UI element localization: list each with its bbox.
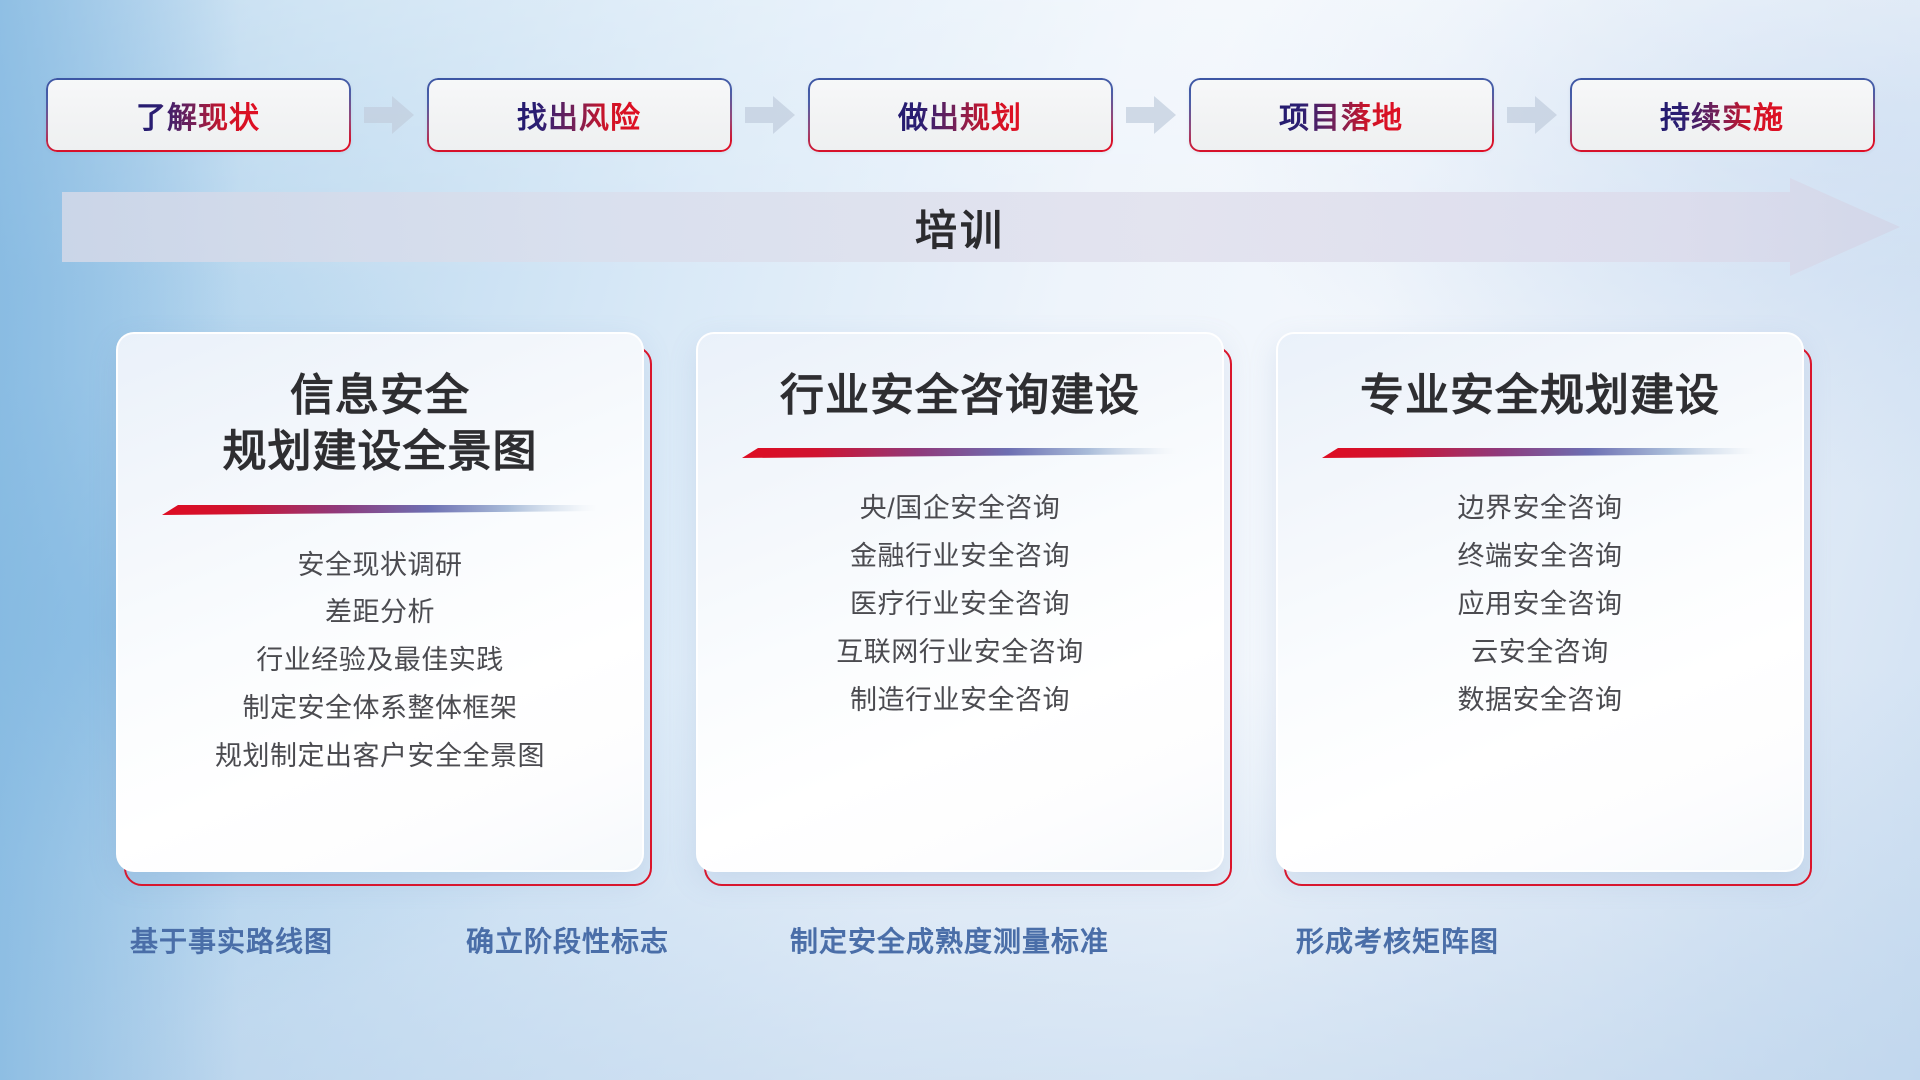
card-title: 信息安全 规划建设全景图 <box>223 368 538 481</box>
flow-step-2[interactable]: 找出风险 <box>427 78 732 152</box>
process-flow-row: 了解现状找出风险做出规划项目落地持续实施 <box>0 70 1920 160</box>
arrow-right-icon <box>1505 92 1559 138</box>
bottom-label-4: 形成考核矩阵图 <box>1296 920 1499 960</box>
cards-row: 信息安全 规划建设全景图安全现状调研差距分析行业经验及最佳实践制定安全体系整体框… <box>0 332 1920 892</box>
bottom-label-2: 确立阶段性标志 <box>466 920 669 960</box>
flow-step-label: 找出风险 <box>517 93 641 137</box>
card-list-item: 云安全咨询 <box>1471 637 1609 669</box>
card-list-item: 安全现状调研 <box>298 550 463 582</box>
card-list-item: 应用安全咨询 <box>1458 589 1623 621</box>
card-item-list: 安全现状调研差距分析行业经验及最佳实践制定安全体系整体框架规划制定出客户安全全景… <box>215 550 545 773</box>
bottom-label-3: 制定安全成熟度测量标准 <box>790 920 1109 960</box>
card-list-item: 数据安全咨询 <box>1458 685 1623 717</box>
card-1[interactable]: 信息安全 规划建设全景图安全现状调研差距分析行业经验及最佳实践制定安全体系整体框… <box>116 332 644 872</box>
flow-step-label: 持续实施 <box>1660 93 1784 137</box>
flow-step-4[interactable]: 项目落地 <box>1189 78 1494 152</box>
flow-arrow-4 <box>1505 92 1559 138</box>
flow-step-label: 了解现状 <box>136 93 260 137</box>
card-list-item: 金融行业安全咨询 <box>850 541 1070 573</box>
flow-step-3[interactable]: 做出规划 <box>808 78 1113 152</box>
bottom-labels-row: 基于事实路线图确立阶段性标志制定安全成熟度测量标准形成考核矩阵图 <box>0 920 1920 976</box>
card-3[interactable]: 专业安全规划建设边界安全咨询终端安全咨询应用安全咨询云安全咨询数据安全咨询 <box>1276 332 1804 872</box>
card-body: 行业安全咨询建设央/国企安全咨询金融行业安全咨询医疗行业安全咨询互联网行业安全咨… <box>696 332 1224 872</box>
card-list-item: 差距分析 <box>325 597 435 629</box>
card-list-item: 规划制定出客户安全全景图 <box>215 741 545 773</box>
banner-label: 培训 <box>0 178 1920 276</box>
flow-step-label: 项目落地 <box>1279 93 1403 137</box>
card-list-item: 边界安全咨询 <box>1458 493 1623 525</box>
card-list-item: 互联网行业安全咨询 <box>836 637 1084 669</box>
flow-arrow-2 <box>743 92 797 138</box>
card-2[interactable]: 行业安全咨询建设央/国企安全咨询金融行业安全咨询医疗行业安全咨询互联网行业安全咨… <box>696 332 1224 872</box>
card-body: 信息安全 规划建设全景图安全现状调研差距分析行业经验及最佳实践制定安全体系整体框… <box>116 332 644 872</box>
card-item-list: 央/国企安全咨询金融行业安全咨询医疗行业安全咨询互联网行业安全咨询制造行业安全咨… <box>836 493 1084 716</box>
flow-step-label: 做出规划 <box>898 93 1022 137</box>
card-title: 专业安全规划建设 <box>1360 368 1720 424</box>
arrow-right-icon <box>743 92 797 138</box>
card-list-item: 央/国企安全咨询 <box>860 493 1061 525</box>
training-banner: 培训 <box>0 178 1920 276</box>
card-divider <box>1314 446 1766 459</box>
card-list-item: 医疗行业安全咨询 <box>850 589 1070 621</box>
flow-arrow-3 <box>1124 92 1178 138</box>
flow-step-1[interactable]: 了解现状 <box>46 78 351 152</box>
card-divider <box>734 446 1186 459</box>
card-list-item: 行业经验及最佳实践 <box>256 645 504 677</box>
card-list-item: 终端安全咨询 <box>1458 541 1623 573</box>
flow-arrow-1 <box>362 92 416 138</box>
flow-step-5[interactable]: 持续实施 <box>1570 78 1875 152</box>
card-list-item: 制造行业安全咨询 <box>850 685 1070 717</box>
card-body: 专业安全规划建设边界安全咨询终端安全咨询应用安全咨询云安全咨询数据安全咨询 <box>1276 332 1804 872</box>
arrow-right-icon <box>1124 92 1178 138</box>
card-title: 行业安全咨询建设 <box>780 368 1140 424</box>
card-list-item: 制定安全体系整体框架 <box>243 693 518 725</box>
bottom-label-1: 基于事实路线图 <box>130 920 333 960</box>
card-divider <box>154 503 606 516</box>
card-item-list: 边界安全咨询终端安全咨询应用安全咨询云安全咨询数据安全咨询 <box>1458 493 1623 716</box>
arrow-right-icon <box>362 92 416 138</box>
